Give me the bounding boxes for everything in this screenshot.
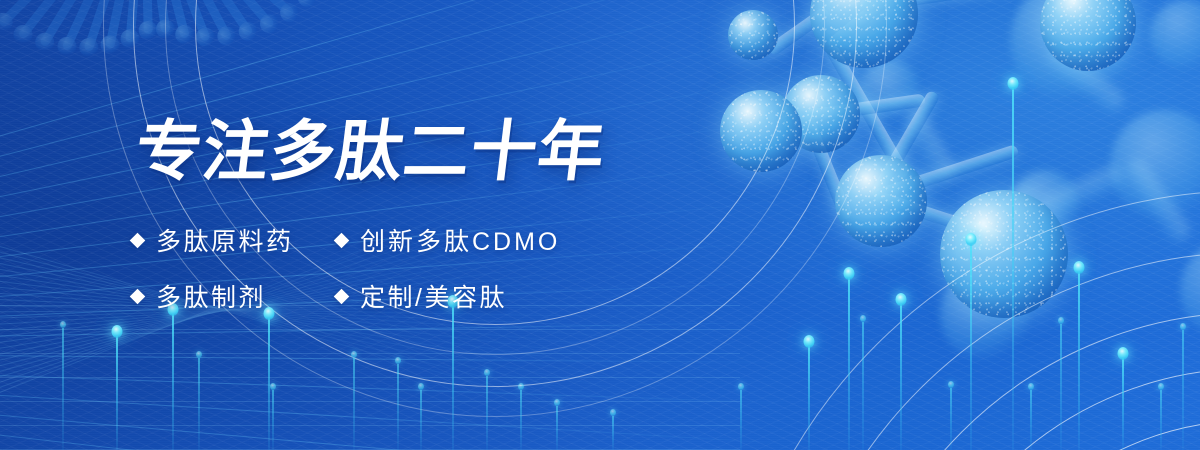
banner-headline: 专注多肽二十年 [132, 118, 609, 184]
feature-bullet-item[interactable]: 定制/美容肽 [336, 278, 507, 314]
diamond-bullet-icon [130, 232, 146, 248]
feature-bullet-label: 多肽制剂 [156, 278, 266, 314]
feature-bullet-label: 多肽原料药 [156, 222, 294, 258]
diamond-bullet-icon [334, 288, 350, 304]
promo-banner: 专注多肽二十年 多肽原料药 创新多肽CDMO 多肽制剂 [0, 0, 1200, 450]
feature-bullet-label: 定制/美容肽 [360, 278, 507, 314]
feature-bullet-label: 创新多肽CDMO [360, 222, 560, 258]
feature-bullet-item[interactable]: 创新多肽CDMO [336, 222, 560, 258]
feature-bullet-item[interactable]: 多肽制剂 [132, 278, 336, 314]
banner-content: 专注多肽二十年 多肽原料药 创新多肽CDMO 多肽制剂 [0, 0, 700, 450]
feature-bullet-row: 多肽原料药 创新多肽CDMO [132, 222, 602, 278]
diamond-bullet-icon [130, 288, 146, 304]
feature-bullet-list: 多肽原料药 创新多肽CDMO 多肽制剂 定制/美容肽 [132, 222, 602, 334]
concentric-arc-rings-bottom-right [700, 170, 1200, 450]
feature-bullet-item[interactable]: 多肽原料药 [132, 222, 336, 258]
diamond-bullet-icon [334, 232, 350, 248]
feature-bullet-row: 多肽制剂 定制/美容肽 [132, 278, 602, 334]
